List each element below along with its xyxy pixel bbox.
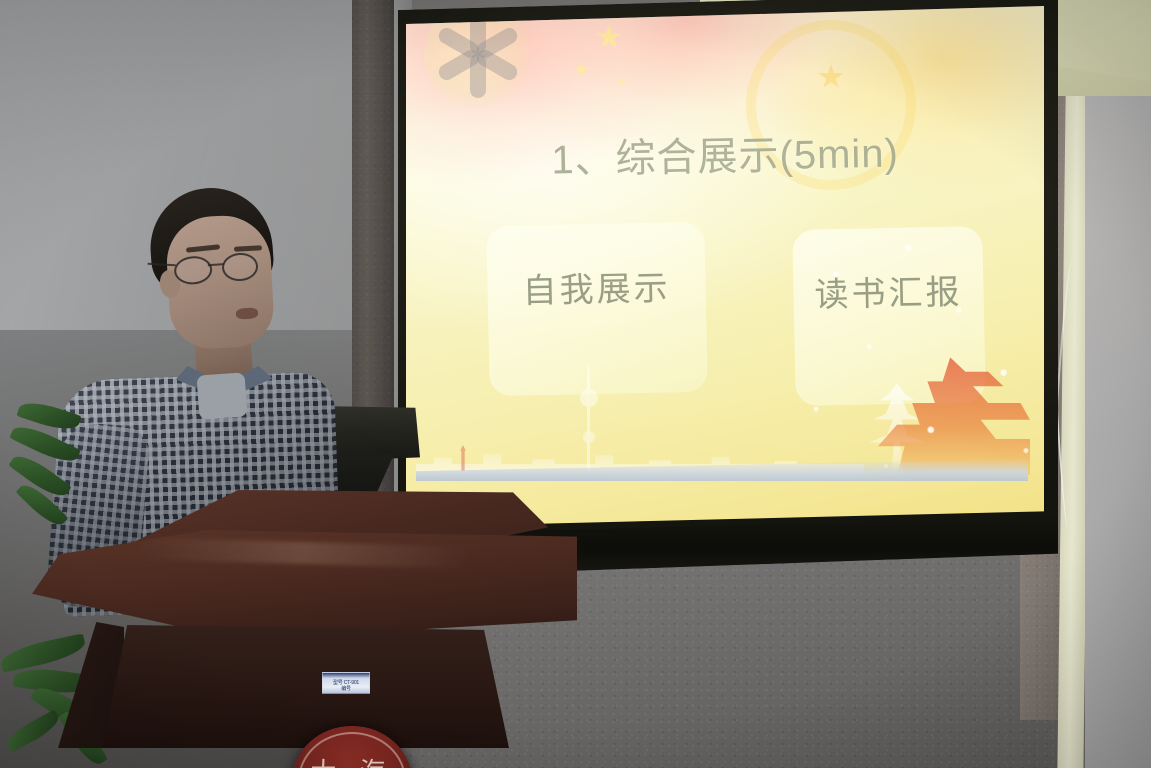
- podium-spec-label: 型号 CT-901 编号: [322, 672, 370, 694]
- podium-column: [94, 625, 509, 748]
- self-presentation-label: 自我展示: [487, 260, 706, 314]
- wooden-podium: [18, 480, 578, 768]
- flag-star-icon-small: [574, 62, 589, 77]
- reading-report-label: 读书汇报: [793, 264, 984, 317]
- slide-surface: 1、综合展示(5min) 自我展示 读书汇报: [406, 6, 1044, 527]
- oriental-pearl-tower-icon: [576, 365, 602, 475]
- presentation-room-scene: 1、综合展示(5min) 自我展示 读书汇报 DELL: [0, 0, 1151, 768]
- speaker-undershirt: [197, 372, 248, 419]
- right-wall: [1085, 0, 1151, 768]
- flag-star-icon-large: [596, 24, 622, 50]
- podium-emblem-text: 大 海: [292, 752, 412, 768]
- flag-star-icon-tiny: [616, 76, 627, 87]
- slide-title: 1、综合展示(5min): [405, 118, 1044, 189]
